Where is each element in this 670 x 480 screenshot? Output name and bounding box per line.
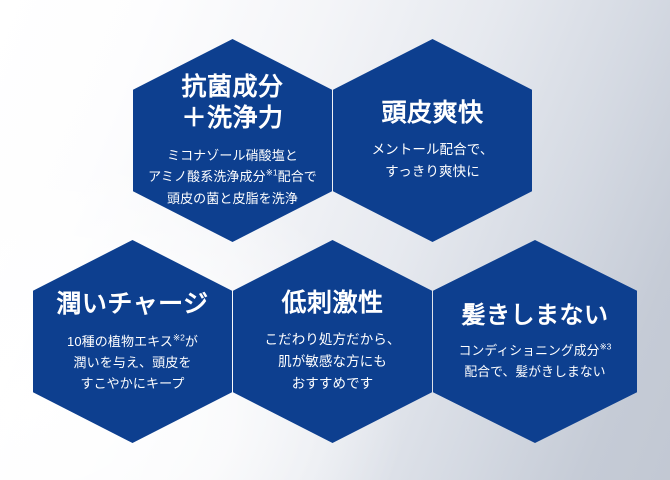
benefit-description: こだわり処方だから、 肌が敏感な方にも おすすめです (239, 329, 426, 395)
benefit-title: 低刺激性 (239, 288, 426, 319)
benefit-hexagon-antibacterial[interactable]: 抗菌成分 ＋洗浄力 ミコナゾール硝酸塩と アミノ酸系洗浄成分※1配合で 頭皮の菌… (133, 39, 332, 242)
benefit-description-part-1: コンディショニング成分 (459, 343, 600, 358)
benefit-hexagon-low-irritant[interactable]: 低刺激性 こだわり処方だから、 肌が敏感な方にも おすすめです (233, 240, 432, 443)
benefit-content: 潤いチャージ 10種の植物エキス※2が 潤いを与え、頭皮を すこやかにキープ (33, 289, 232, 394)
benefit-title: 髪きしまない (439, 301, 631, 330)
benefit-content: 頭皮爽快 メントール配合で、 すっきり爽快に (333, 98, 532, 183)
hexagon-benefits-infographic: 抗菌成分 ＋洗浄力 ミコナゾール硝酸塩と アミノ酸系洗浄成分※1配合で 頭皮の菌… (0, 0, 670, 480)
benefit-footnote-marker: ※1 (266, 168, 278, 178)
benefit-title: 抗菌成分 ＋洗浄力 (139, 72, 326, 133)
benefit-description: ミコナゾール硝酸塩と アミノ酸系洗浄成分※1配合で 頭皮の菌と皮脂を洗浄 (139, 145, 326, 208)
benefit-description-part-1: ミコナゾール硝酸塩と アミノ酸系洗浄成分 (148, 148, 298, 184)
benefit-description: メントール配合で、 すっきり爽快に (339, 139, 526, 183)
benefit-hexagon-scalp-refresh[interactable]: 頭皮爽快 メントール配合で、 すっきり爽快に (333, 39, 532, 242)
benefit-footnote-marker: ※3 (600, 342, 612, 352)
benefit-description-part-2: 配合で、髪がきしまない (464, 364, 605, 379)
benefit-description-part-1: 10種の植物エキス (67, 334, 173, 349)
benefit-content: 低刺激性 こだわり処方だから、 肌が敏感な方にも おすすめです (233, 288, 432, 395)
benefit-content: 抗菌成分 ＋洗浄力 ミコナゾール硝酸塩と アミノ酸系洗浄成分※1配合で 頭皮の菌… (133, 72, 332, 208)
benefit-footnote-marker: ※2 (173, 332, 185, 342)
benefit-description: コンディショニング成分※3 配合で、髪がきしまない (439, 341, 631, 382)
benefit-description-part-1: メントール配合で、 すっきり爽快に (372, 142, 494, 179)
benefit-hexagon-no-frizz[interactable]: 髪きしまない コンディショニング成分※3 配合で、髪がきしまない (433, 240, 637, 443)
benefit-hexagon-moisture[interactable]: 潤いチャージ 10種の植物エキス※2が 潤いを与え、頭皮を すこやかにキープ (33, 240, 232, 443)
benefit-title: 頭皮爽快 (339, 98, 526, 129)
benefit-title: 潤いチャージ (39, 289, 226, 320)
benefit-description-part-1: こだわり処方だから、 肌が敏感な方にも おすすめです (265, 332, 401, 391)
benefit-description: 10種の植物エキス※2が 潤いを与え、頭皮を すこやかにキープ (39, 331, 226, 394)
benefit-content: 髪きしまない コンディショニング成分※3 配合で、髪がきしまない (433, 301, 637, 383)
